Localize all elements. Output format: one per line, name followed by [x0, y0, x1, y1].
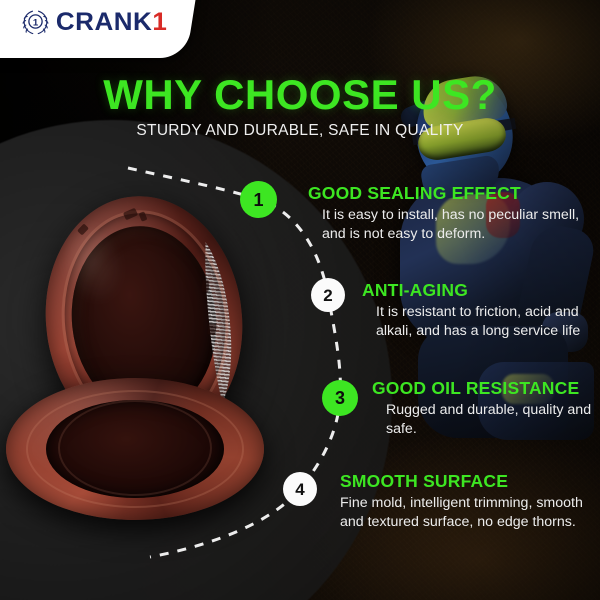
- step-badge-1[interactable]: 1: [240, 181, 277, 218]
- feature-item-4: SMOOTH SURFACE Fine mold, intelligent tr…: [340, 472, 590, 532]
- feature-body-3: Rugged and durable, quality and safe.: [372, 401, 594, 439]
- feature-heading-3: GOOD OIL RESISTANCE: [372, 379, 594, 398]
- page-subtitle: STURDY AND DURABLE, SAFE IN QUALITY: [0, 122, 600, 140]
- step-badge-4[interactable]: 4: [283, 472, 317, 506]
- page-title: WHY CHOOSE US?: [0, 74, 600, 116]
- step-badge-2[interactable]: 2: [311, 278, 345, 312]
- feature-heading-2: ANTI-AGING: [362, 281, 594, 300]
- step-badge-3[interactable]: 3: [322, 380, 358, 416]
- brand-wordmark: CRANK1: [56, 10, 167, 35]
- feature-heading-4: SMOOTH SURFACE: [340, 472, 590, 491]
- feature-item-1: GOOD SEALING EFFECT It is easy to instal…: [308, 184, 590, 244]
- feature-heading-1: GOOD SEALING EFFECT: [308, 184, 590, 203]
- feature-item-3: GOOD OIL RESISTANCE Rugged and durable, …: [372, 379, 594, 439]
- brand-name-accent: 1: [152, 8, 167, 36]
- brand-logo-banner[interactable]: 1 CRANK1: [0, 0, 198, 58]
- feature-item-2: ANTI-AGING It is resistant to friction, …: [362, 281, 594, 341]
- feature-body-1: It is easy to install, has no peculiar s…: [308, 206, 590, 244]
- svg-text:1: 1: [33, 17, 39, 28]
- oil-seal-product-image: [6, 196, 274, 528]
- promo-poster: 1 CRANK1 WHY CHOOSE US? STURDY AND DURAB…: [0, 0, 600, 600]
- feature-body-2: It is resistant to friction, acid and al…: [362, 303, 594, 341]
- feature-body-4: Fine mold, intelligent trimming, smooth …: [340, 494, 590, 532]
- laurel-wreath-icon: 1: [20, 7, 51, 38]
- brand-name-main: CRANK: [56, 8, 152, 36]
